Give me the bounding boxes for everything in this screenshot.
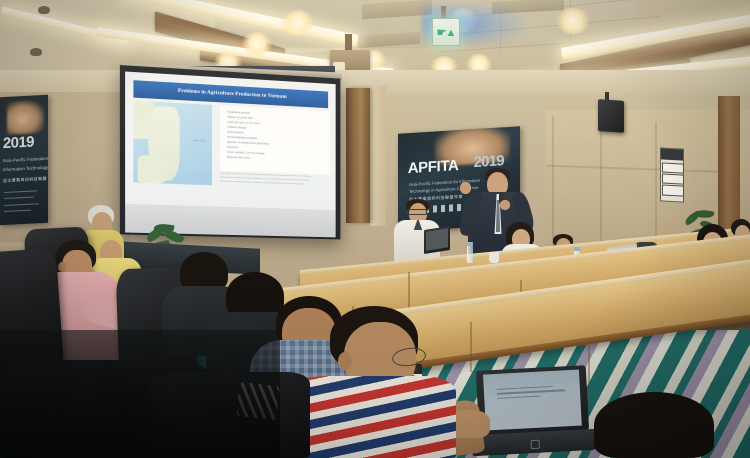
screen-surface: Problems in Agriculture Production in Vi… [125,71,336,210]
wall-panel-seam [600,118,602,258]
bottle-cap [467,242,473,246]
brochure-slot [662,173,683,184]
ceiling-downlight [282,10,314,36]
screen-text-line [497,395,540,399]
brochure-slot [662,162,683,173]
water-bottle [467,245,473,263]
desk-seam [470,322,472,372]
projection-screen: Problems in Agriculture Production in Vi… [120,65,340,239]
slide-notes: Agriculture production in Vietnam faces … [220,172,329,194]
brochure-slot [662,185,683,196]
laptop-trackpad[interactable] [530,440,539,449]
poster-left-rule [4,210,31,213]
bottle-cap [574,247,580,251]
conference-room-photo: ☛▲ 2019 Asia-Pacific Federation of Infor… [0,0,750,458]
ear [338,352,352,370]
brochure-rack [660,147,684,202]
speaker-gesturing-hand [460,182,471,194]
panelist-laptop [424,226,450,254]
map-sea-label: East Sea [193,138,205,143]
slide-title: Problems in Agriculture Production in Vi… [178,88,287,100]
ceiling-downlight [242,32,272,56]
poster-left-cjk: 亞太農業資訊科技聯盟 [3,175,47,183]
ceiling-sensor [38,6,50,14]
presentation-slide: Problems in Agriculture Production in Vi… [125,71,336,210]
foreground-shadow [0,330,280,458]
laptop-screen [426,228,448,251]
poster-left-subtitle-2: Information Technology in Agriculture [3,164,48,173]
wall-pillar-light [370,86,386,226]
ear [58,262,66,272]
paper-cup [489,252,499,263]
foreground-attendee-hair [594,392,714,458]
slide-body: Population growth Shrink of arable land … [220,106,329,175]
map-landmass [138,155,168,184]
wall-speaker [598,99,624,133]
glasses-icon [407,209,427,215]
ceiling-sensor [30,48,42,56]
exit-icon: ☛▲ [437,26,456,39]
screen-text-line [497,389,565,394]
poster-left-subtitle-1: Asia-Pacific Federation of [3,156,48,164]
poster-left-rule [4,203,40,206]
poster-left: 2019 Asia-Pacific Federation of Informat… [0,95,48,226]
desk-seam [588,338,590,388]
poster-left-year: 2019 [3,134,34,153]
poster-left-rule [4,190,38,193]
foreground-laptop[interactable] [476,365,590,457]
speaker-mic-hand [500,200,510,210]
wall-pillar-wood [346,88,370,223]
exit-sign: ☛▲ [432,18,460,46]
laptop-lid [476,365,589,436]
striped-polo-shirt [286,376,456,458]
slide-map-vietnam: East Sea [134,101,212,186]
ceiling-downlight [556,8,590,34]
laptop-screen[interactable] [483,369,583,430]
poster-left-rule [4,197,34,200]
poster-left-photo [7,100,44,135]
slide-bullet-list: Population growth Shrink of arable land … [227,109,325,163]
poster-acronym: APFITA [408,157,459,177]
screen-text-line [497,385,553,390]
brochure-rack-header [661,148,683,161]
